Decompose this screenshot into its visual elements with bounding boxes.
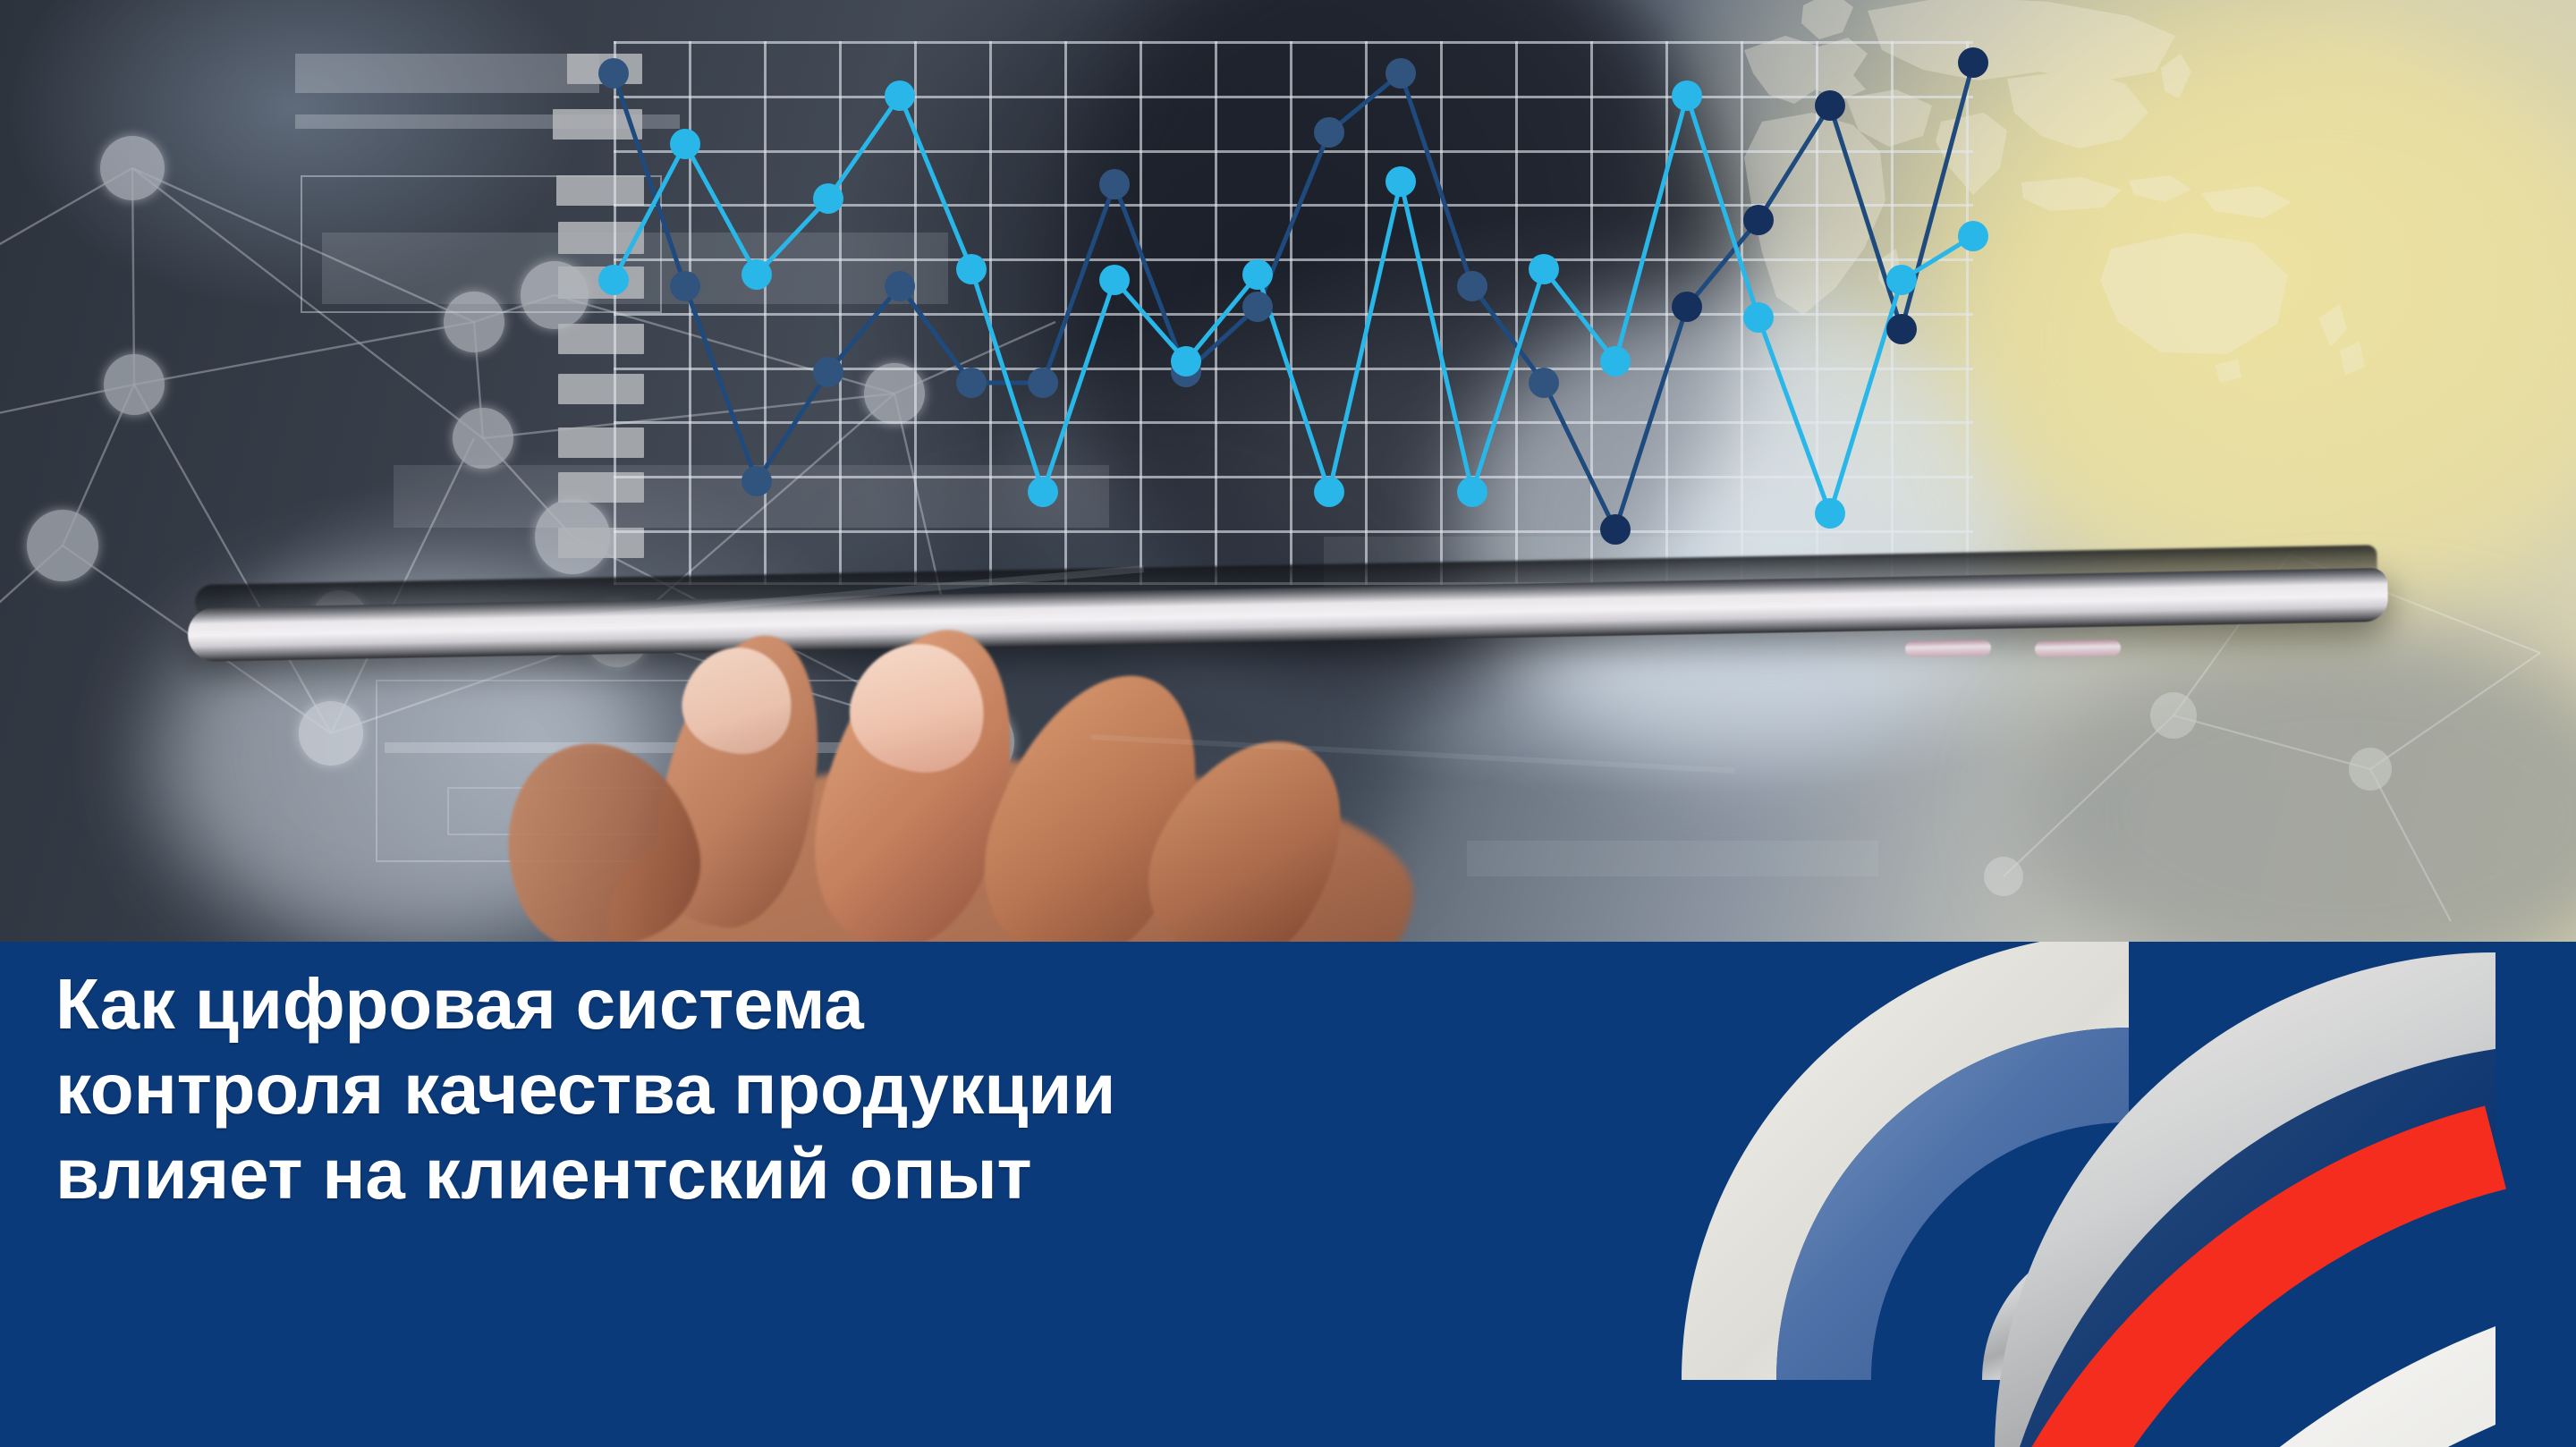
title-banner: Как цифровая система контроля качества п… [0, 942, 2576, 1447]
hand-holding-tablet [501, 626, 1628, 944]
series-a-line [614, 96, 1973, 513]
headline-line-3: влияет на клиентский опыт [55, 1131, 1916, 1216]
headline-line-1: Как цифровая система [55, 961, 1916, 1046]
series-b-line [614, 63, 1973, 529]
tablet-volume-down-button[interactable] [2035, 639, 2121, 657]
page-title: Как цифровая система контроля качества п… [55, 961, 1916, 1217]
headline-line-2: контроля качества продукции [55, 1046, 1916, 1131]
hero-photo [0, 0, 2576, 944]
series-b-points [598, 47, 1988, 545]
poster-canvas: Как цифровая система контроля качества п… [0, 0, 2576, 1447]
series-a-points [598, 80, 1988, 529]
tablet-volume-up-button[interactable] [1905, 639, 1991, 657]
